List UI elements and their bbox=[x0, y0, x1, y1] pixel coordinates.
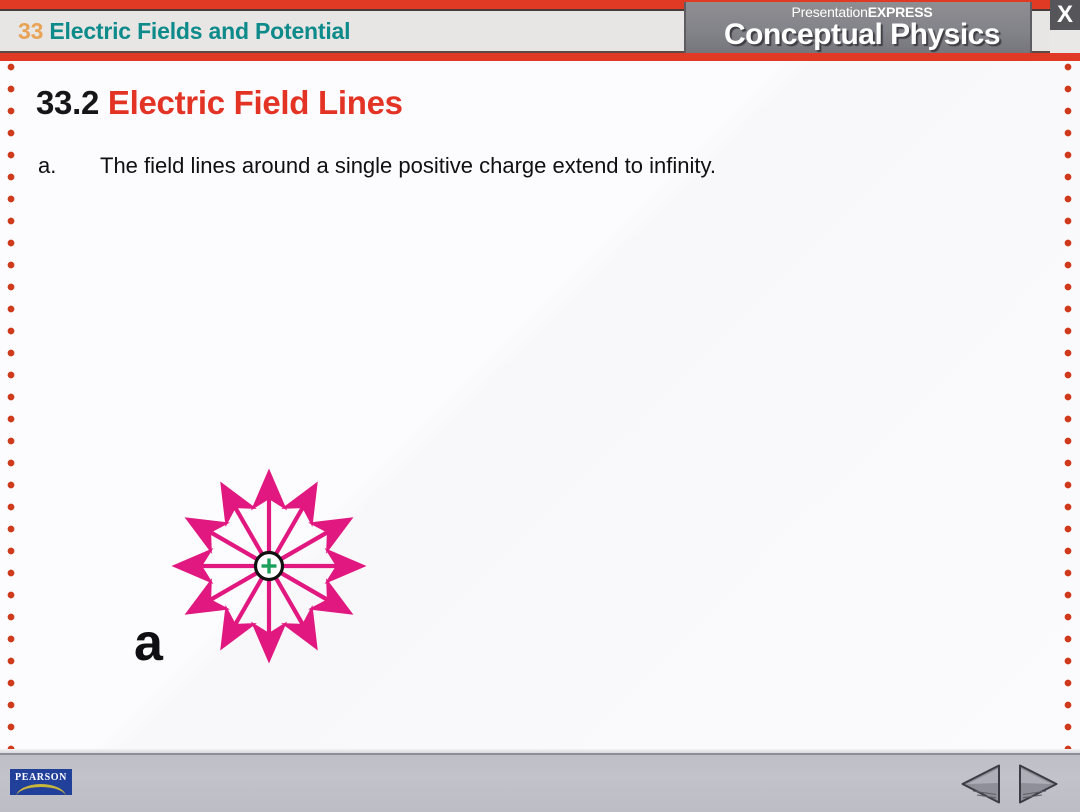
next-slide-button[interactable] bbox=[1014, 763, 1060, 805]
bullet-marker: a. bbox=[38, 153, 100, 179]
slide-section-title: Electric Field Lines bbox=[108, 84, 403, 121]
chapter-heading: 33 Electric Fields and Potential bbox=[18, 18, 350, 45]
slide-left-dotted-border bbox=[5, 61, 17, 753]
header-bottom-red-bar bbox=[0, 53, 1080, 61]
close-window-button[interactable]: X bbox=[1050, 0, 1080, 30]
pearson-logo-text: PEARSON bbox=[10, 772, 72, 783]
slide-right-dotted-border bbox=[1062, 61, 1074, 753]
pearson-logo-arc bbox=[16, 784, 66, 797]
slide-canvas: 33.2 Electric Field Lines a.The field li… bbox=[0, 61, 1080, 753]
triangle-right-icon bbox=[1014, 763, 1060, 805]
point-charge bbox=[256, 553, 283, 580]
figure-part-label: a bbox=[134, 613, 163, 673]
previous-slide-button[interactable] bbox=[959, 763, 1005, 805]
brand-plaque: PresentationEXPRESS Conceptual Physics bbox=[684, 2, 1032, 53]
field-lines-diagram bbox=[130, 391, 430, 711]
pearson-logo[interactable]: PEARSON bbox=[10, 769, 72, 795]
bullet-text: The field lines around a single positive… bbox=[100, 153, 716, 178]
close-icon: X bbox=[1050, 0, 1080, 30]
chapter-number: 33 bbox=[18, 18, 43, 44]
presentation-window: 33 Electric Fields and Potential Present… bbox=[0, 0, 1080, 810]
slide-section-number: 33.2 bbox=[36, 84, 99, 121]
slide-heading: 33.2 Electric Field Lines bbox=[36, 84, 403, 122]
electric-field-figure: a bbox=[130, 391, 430, 711]
triangle-left-icon bbox=[959, 763, 1005, 805]
app-header: 33 Electric Fields and Potential Present… bbox=[0, 0, 1080, 60]
bullet-item: a.The field lines around a single positi… bbox=[38, 153, 1018, 179]
close-button-notch bbox=[1050, 30, 1080, 53]
app-footer: PEARSON bbox=[0, 753, 1080, 812]
chapter-name: Electric Fields and Potential bbox=[49, 18, 350, 44]
brand-course-title: Conceptual Physics bbox=[694, 18, 1030, 52]
